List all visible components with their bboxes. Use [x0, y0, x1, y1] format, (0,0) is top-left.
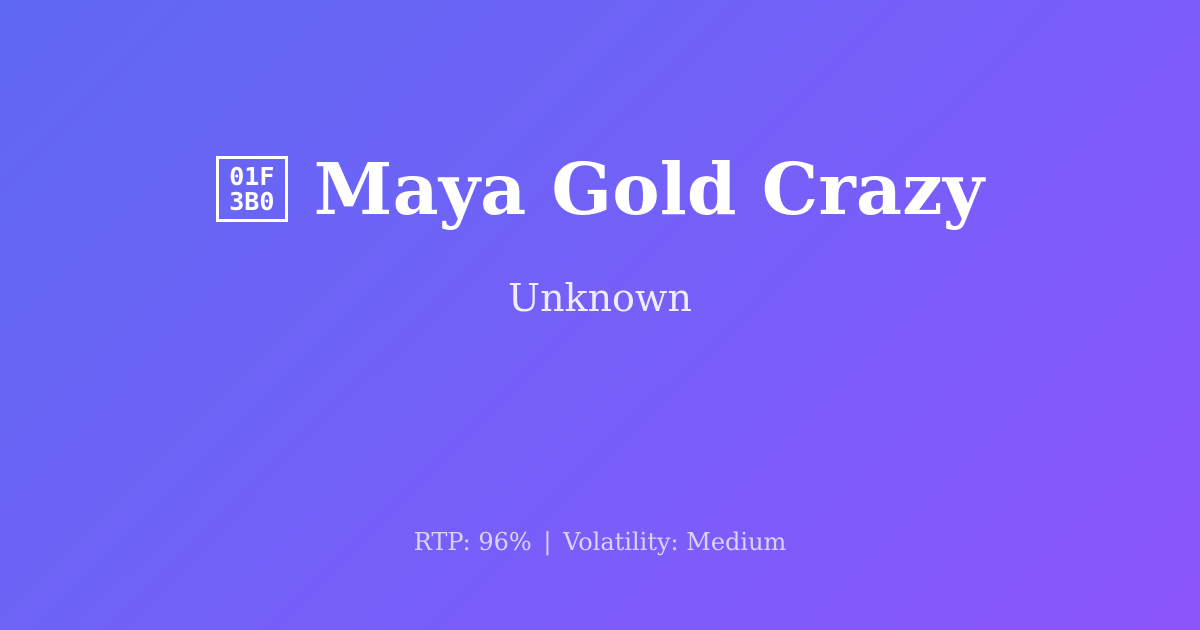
tofu-codepoint-top: 01F: [229, 164, 274, 190]
tofu-codepoint-bottom: 3B0: [229, 189, 274, 215]
og-share-card: 01F 3B0 Maya Gold Crazy Unknown RTP: 96%…: [0, 0, 1200, 630]
title-row: 01F 3B0 Maya Gold Crazy: [216, 152, 984, 227]
volatility-label: Volatility:: [563, 528, 679, 556]
slot-machine-icon: 01F 3B0: [216, 156, 288, 222]
volatility-value: Medium: [686, 528, 786, 556]
meta-separator: |: [539, 528, 555, 556]
rtp-label: RTP:: [414, 528, 471, 556]
provider-name: Unknown: [508, 276, 692, 322]
rtp-value: 96%: [478, 528, 531, 556]
game-title: Maya Gold Crazy: [314, 152, 984, 227]
game-meta-line: RTP: 96% | Volatility: Medium: [0, 527, 1200, 557]
hero-section: 01F 3B0 Maya Gold Crazy Unknown: [0, 0, 1200, 492]
